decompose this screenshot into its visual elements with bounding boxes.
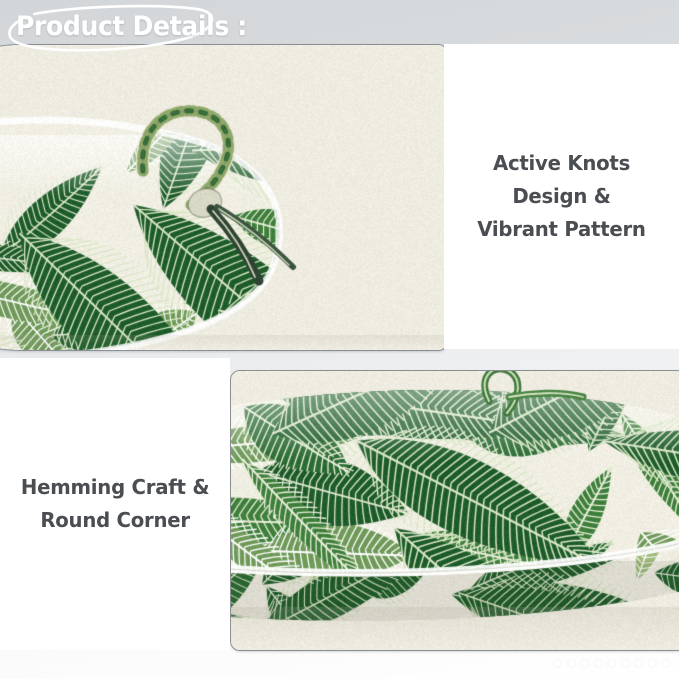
pagination-dot — [649, 660, 656, 667]
pagination-dots — [554, 660, 669, 667]
feature-card-active-knots: Active Knots Design & Vibrant Pattern — [444, 44, 679, 349]
pagination-dot — [622, 660, 629, 667]
pagination-dot — [608, 660, 615, 667]
feature-line-1: Hemming Craft & — [21, 475, 209, 499]
pagination-dot — [581, 660, 588, 667]
pagination-dot — [568, 660, 575, 667]
product-details-image: Active Knots Design & Vibrant Pattern He… — [0, 0, 679, 679]
feature-card-hemming-craft-text: Hemming Craft & Round Corner — [15, 471, 215, 537]
pagination-dot — [595, 660, 602, 667]
feature-card-active-knots-text: Active Knots Design & Vibrant Pattern — [449, 147, 675, 247]
pagination-dot — [662, 660, 669, 667]
product-photo-knot-detail — [0, 44, 448, 351]
header: Product Details : — [0, 0, 300, 58]
page-title: Product Details : — [16, 11, 247, 42]
pagination-dot — [635, 660, 642, 667]
pagination-dot — [554, 660, 561, 667]
feature-line-2: Vibrant Pattern — [477, 217, 645, 241]
hemming-detail-photo-canvas — [231, 371, 679, 650]
knot-detail-photo-canvas — [0, 45, 447, 350]
feature-line-2: Round Corner — [40, 508, 189, 532]
product-photo-hemming-detail — [230, 370, 679, 651]
feature-line-1: Active Knots Design & — [493, 151, 630, 208]
feature-card-hemming-craft: Hemming Craft & Round Corner — [0, 358, 230, 650]
